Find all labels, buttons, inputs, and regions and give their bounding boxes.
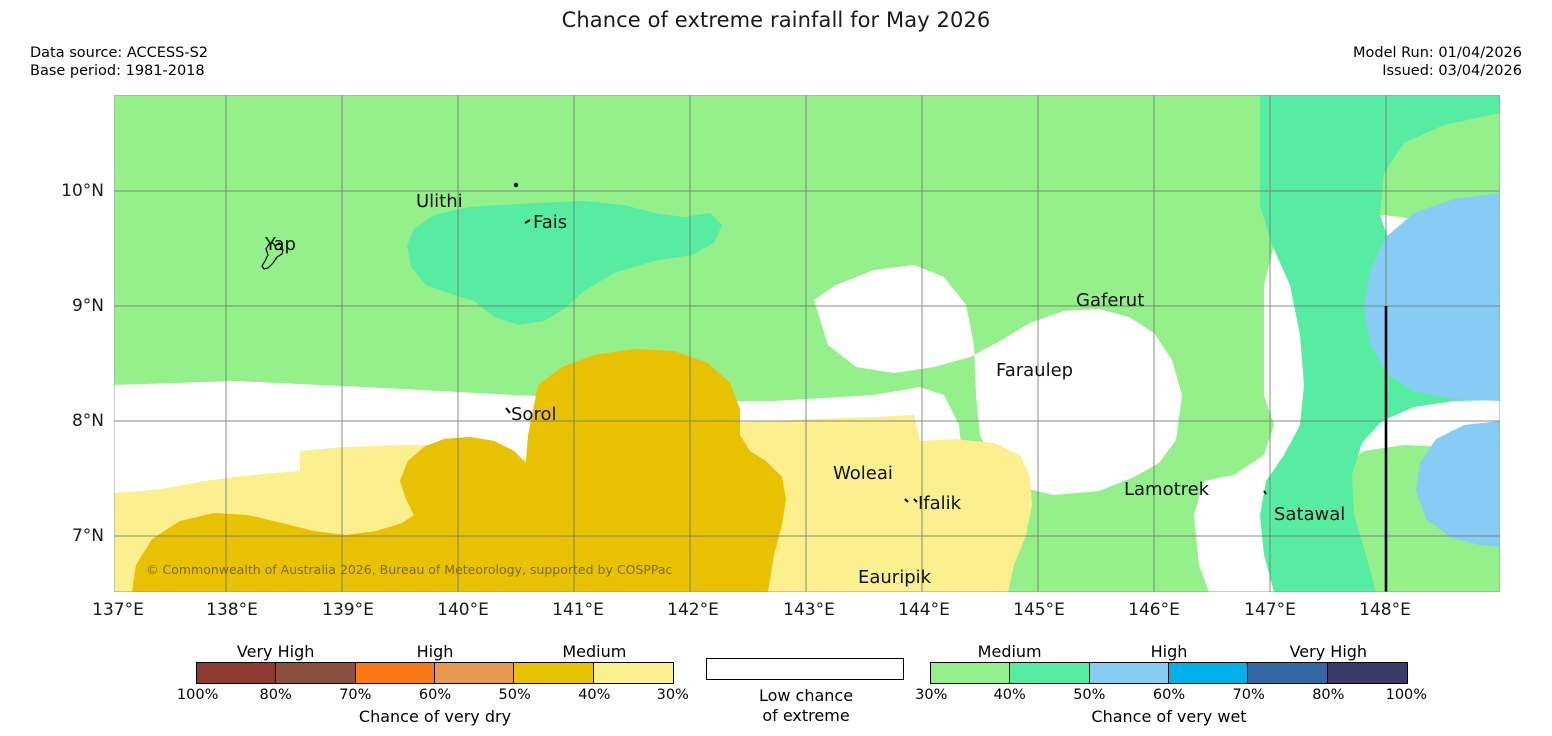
legend-low-chance-line2: of extreme [706, 706, 906, 726]
place-label-fais: Fais [533, 212, 567, 233]
legend-dry-swatch-3[interactable] [435, 663, 514, 683]
legend-low-chance-swatch [706, 658, 904, 680]
place-label-gaferut: Gaferut [1076, 290, 1144, 311]
legend-dry-category-very-high: Very High [237, 642, 314, 661]
legend-wet-tick-30%: 30% [915, 687, 947, 703]
place-label-sorol: Sorol [511, 404, 556, 425]
legend-wet-tick-60%: 60% [1153, 687, 1185, 703]
model-run-text: Model Run: 01/04/2026 [1353, 44, 1522, 62]
legend-wet-swatch-3[interactable] [1169, 663, 1248, 683]
legend-dry-tick-50%: 50% [499, 687, 531, 703]
x-tick-142°E: 142°E [667, 600, 719, 620]
legend-wet-tick-50%: 50% [1073, 687, 1105, 703]
legend-wet-colorbar[interactable] [930, 662, 1408, 684]
ulithi-island-dot [514, 183, 517, 186]
legend-wet-swatch-5[interactable] [1328, 663, 1407, 683]
legend-low-chance-line1: Low chance [706, 686, 906, 706]
legend-wet-ticks: 30%40%50%60%70%80%100% [930, 687, 1408, 705]
place-label-yap: Yap [264, 234, 296, 255]
legend-wet-category-medium: Medium [978, 642, 1042, 661]
legend-low-chance-of-extreme[interactable]: Low chance of extreme [706, 658, 906, 726]
legend-dry-category-high: High [417, 642, 454, 661]
x-tick-138°E: 138°E [206, 600, 258, 620]
legend-dry-swatch-5[interactable] [594, 663, 673, 683]
place-label-ulithi: Ulithi [416, 191, 463, 212]
x-tick-145°E: 145°E [1013, 600, 1065, 620]
legend-dry-categories: Very HighHighMedium [196, 642, 674, 662]
legend-dry-category-medium: Medium [562, 642, 626, 661]
legend-wet-category-high: High [1151, 642, 1188, 661]
legend-dry-swatch-1[interactable] [276, 663, 355, 683]
base-period-text: Base period: 1981-2018 [30, 62, 208, 80]
x-tick-144°E: 144°E [898, 600, 950, 620]
legend-wet-category-very-high: Very High [1290, 642, 1367, 661]
place-label-lamotrek: Lamotrek [1124, 479, 1210, 500]
x-tick-143°E: 143°E [783, 600, 835, 620]
legend-wet-tick-80%: 80% [1312, 687, 1344, 703]
legend-dry-tick-70%: 70% [339, 687, 371, 703]
map-copyright: © Commonwealth of Australia 2026, Bureau… [146, 562, 672, 577]
x-tick-139°E: 139°E [322, 600, 374, 620]
legend-wet-swatch-0[interactable] [931, 663, 1010, 683]
legend-wet-swatch-2[interactable] [1090, 663, 1169, 683]
legend-dry-swatch-4[interactable] [514, 663, 593, 683]
legend-wet-categories: MediumHighVery High [930, 642, 1408, 662]
legend-dry-tick-40%: 40% [578, 687, 610, 703]
legend-dry-tick-100%: 100% [177, 687, 218, 703]
issued-text: Issued: 03/04/2026 [1353, 62, 1522, 80]
legend-dry-colorbar[interactable] [196, 662, 674, 684]
legend-chance-of-very-wet[interactable]: MediumHighVery High 30%40%50%60%70%80%10… [930, 642, 1408, 726]
page-title: Chance of extreme rainfall for May 2026 [0, 8, 1552, 32]
x-tick-148°E: 148°E [1359, 600, 1411, 620]
legend-wet-tick-100%: 100% [1386, 687, 1427, 703]
legend-dry-tick-80%: 80% [260, 687, 292, 703]
x-tick-137°E: 137°E [92, 600, 144, 620]
legend-dry-swatch-0[interactable] [197, 663, 276, 683]
legend-wet-tick-70%: 70% [1233, 687, 1265, 703]
legend-wet-tick-40%: 40% [994, 687, 1026, 703]
place-label-faraulep: Faraulep [996, 360, 1073, 381]
x-tick-147°E: 147°E [1244, 600, 1296, 620]
legend-dry-tick-60%: 60% [419, 687, 451, 703]
legend-dry-swatch-2[interactable] [356, 663, 435, 683]
x-tick-140°E: 140°E [437, 600, 489, 620]
metadata-right: Model Run: 01/04/2026 Issued: 03/04/2026 [1353, 44, 1522, 80]
rainfall-probability-map[interactable]: YapUlithiFaisGaferutFaraulepSorolWoleaiI… [114, 95, 1500, 592]
x-tick-141°E: 141°E [552, 600, 604, 620]
x-tick-146°E: 146°E [1128, 600, 1180, 620]
legend-wet-caption: Chance of very wet [930, 707, 1408, 726]
y-tick-8°N: 8°N [0, 411, 104, 431]
y-tick-10°N: 10°N [0, 181, 104, 201]
legend-wet-swatch-1[interactable] [1010, 663, 1089, 683]
place-label-eauripik: Eauripik [858, 567, 932, 588]
y-tick-7°N: 7°N [0, 526, 104, 546]
data-source-text: Data source: ACCESS-S2 [30, 44, 208, 62]
legend-dry-tick-30%: 30% [657, 687, 689, 703]
legend-wet-swatch-4[interactable] [1248, 663, 1327, 683]
legend-chance-of-very-dry[interactable]: Very HighHighMedium 100%80%70%60%50%40%3… [196, 642, 674, 726]
metadata-left: Data source: ACCESS-S2 Base period: 1981… [30, 44, 208, 80]
y-tick-9°N: 9°N [0, 296, 104, 316]
place-label-woleai: Woleai [833, 463, 893, 484]
legend-dry-caption: Chance of very dry [196, 707, 674, 726]
place-label-satawal: Satawal [1274, 504, 1345, 525]
legend-dry-ticks: 100%80%70%60%50%40%30% [196, 687, 674, 705]
place-label-ifalik: Ifalik [918, 493, 962, 514]
